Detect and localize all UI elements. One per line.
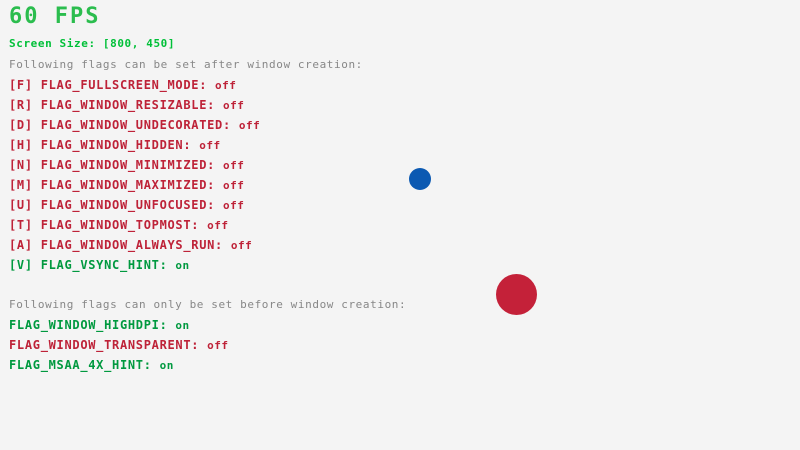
flag-name: FLAG_FULLSCREEN_MODE:: [41, 78, 215, 92]
flag-row[interactable]: [U] FLAG_WINDOW_UNFOCUSED: off: [9, 199, 244, 211]
flag-shortcut-key: [N]: [9, 158, 41, 172]
flag-name: FLAG_WINDOW_UNFOCUSED:: [41, 198, 223, 212]
flag-value: off: [231, 239, 252, 252]
bouncing-ball-red: [496, 274, 537, 315]
flag-name: FLAG_WINDOW_HIGHDPI:: [9, 318, 175, 332]
flag-shortcut-key: [F]: [9, 78, 41, 92]
flag-row[interactable]: [N] FLAG_WINDOW_MINIMIZED: off: [9, 159, 244, 171]
flag-row[interactable]: FLAG_WINDOW_HIGHDPI: on: [9, 319, 190, 331]
flag-value: off: [223, 199, 244, 212]
flag-row[interactable]: FLAG_MSAA_4X_HINT: on: [9, 359, 174, 371]
flag-row[interactable]: [M] FLAG_WINDOW_MAXIMIZED: off: [9, 179, 244, 191]
raylib-window-canvas: 60 FPS Screen Size: [800, 450] Following…: [0, 0, 800, 450]
flag-name: FLAG_WINDOW_MAXIMIZED:: [41, 178, 223, 192]
flag-value: off: [239, 119, 260, 132]
flag-value: off: [223, 99, 244, 112]
flag-name: FLAG_WINDOW_HIDDEN:: [41, 138, 200, 152]
flag-shortcut-key: [A]: [9, 238, 41, 252]
flag-name: FLAG_WINDOW_TRANSPARENT:: [9, 338, 207, 352]
flag-row[interactable]: [D] FLAG_WINDOW_UNDECORATED: off: [9, 119, 260, 131]
flag-name: FLAG_WINDOW_RESIZABLE:: [41, 98, 223, 112]
flag-shortcut-key: [R]: [9, 98, 41, 112]
flag-shortcut-key: [M]: [9, 178, 41, 192]
flag-shortcut-key: [T]: [9, 218, 41, 232]
flag-name: FLAG_WINDOW_ALWAYS_RUN:: [41, 238, 231, 252]
flag-value: off: [207, 219, 228, 232]
flag-row[interactable]: [T] FLAG_WINDOW_TOPMOST: off: [9, 219, 229, 231]
flag-value: off: [215, 79, 236, 92]
after-creation-note: Following flags can be set after window …: [9, 59, 363, 70]
flag-name: FLAG_WINDOW_MINIMIZED:: [41, 158, 223, 172]
flag-row[interactable]: [V] FLAG_VSYNC_HINT: on: [9, 259, 190, 271]
flag-value: on: [160, 359, 174, 372]
flag-value: off: [223, 179, 244, 192]
before-creation-note: Following flags can only be set before w…: [9, 299, 406, 310]
flag-row[interactable]: [H] FLAG_WINDOW_HIDDEN: off: [9, 139, 221, 151]
flag-shortcut-key: [U]: [9, 198, 41, 212]
flag-row[interactable]: [R] FLAG_WINDOW_RESIZABLE: off: [9, 99, 244, 111]
flag-value: on: [175, 319, 189, 332]
flag-row[interactable]: [A] FLAG_WINDOW_ALWAYS_RUN: off: [9, 239, 252, 251]
flag-value: off: [223, 159, 244, 172]
flag-name: FLAG_VSYNC_HINT:: [41, 258, 176, 272]
flag-shortcut-key: [D]: [9, 118, 41, 132]
fps-counter: 60 FPS: [9, 6, 100, 28]
flag-row[interactable]: FLAG_WINDOW_TRANSPARENT: off: [9, 339, 229, 351]
flag-name: FLAG_MSAA_4X_HINT:: [9, 358, 160, 372]
flag-value: off: [207, 339, 228, 352]
flag-row[interactable]: [F] FLAG_FULLSCREEN_MODE: off: [9, 79, 236, 91]
flag-name: FLAG_WINDOW_TOPMOST:: [41, 218, 207, 232]
flag-name: FLAG_WINDOW_UNDECORATED:: [41, 118, 239, 132]
flag-value: on: [175, 259, 189, 272]
screen-size-label: Screen Size: [800, 450]: [9, 38, 175, 49]
bouncing-ball-blue: [409, 168, 431, 190]
flag-shortcut-key: [H]: [9, 138, 41, 152]
flag-shortcut-key: [V]: [9, 258, 41, 272]
flag-value: off: [199, 139, 220, 152]
